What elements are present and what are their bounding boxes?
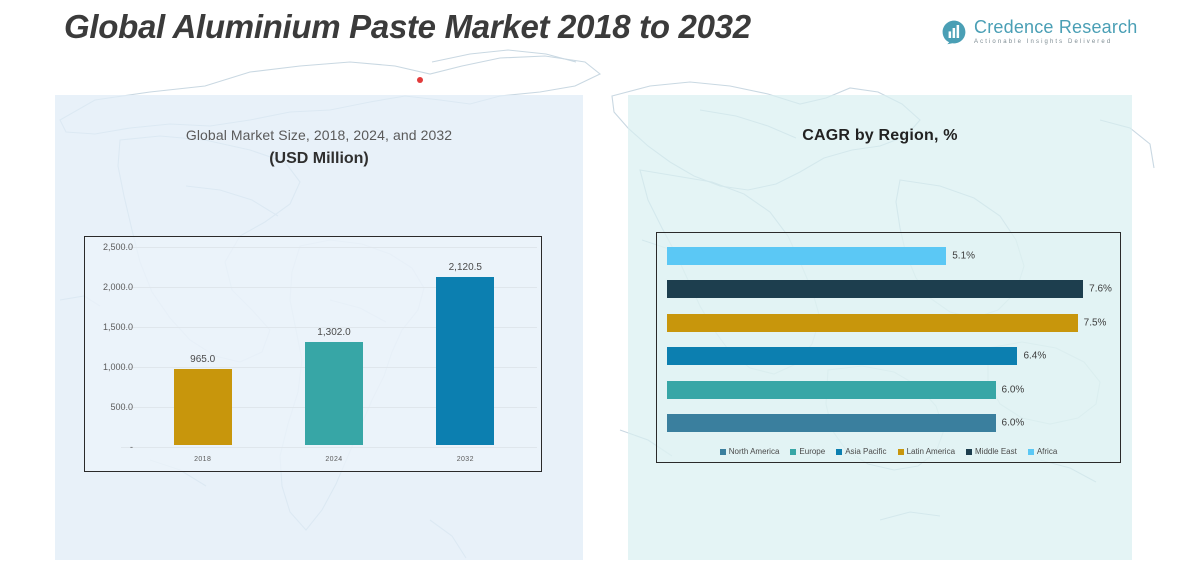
legend-swatch — [836, 449, 842, 455]
legend-swatch — [720, 449, 726, 455]
legend-label: Europe — [799, 447, 825, 456]
left-panel-heading: Global Market Size, 2018, 2024, and 2032… — [55, 127, 583, 168]
column-bar[interactable] — [436, 277, 494, 445]
logo-tagline: Actionable Insights Delivered — [974, 39, 1137, 45]
column-bar[interactable] — [174, 369, 232, 445]
legend-item[interactable]: Asia Pacific — [836, 447, 886, 456]
horizontal-bar[interactable] — [667, 414, 996, 432]
legend-label: Asia Pacific — [845, 447, 886, 456]
horizontal-bar[interactable] — [667, 347, 1017, 365]
y-axis-tick-label: 2,500.0 — [85, 242, 133, 252]
bar-plot-area: 5.1%7.6%7.5%6.4%6.0%6.0% — [657, 233, 1120, 432]
y-axis-tick-label: 1,500.0 — [85, 322, 133, 332]
page-title: Global Aluminium Paste Market 2018 to 20… — [64, 8, 751, 46]
brand-logo: Credence Research Actionable Insights De… — [941, 18, 1137, 45]
left-heading-line-1: Global Market Size, 2018, 2024, and 2032 — [55, 127, 583, 143]
legend-item[interactable]: North America — [720, 447, 780, 456]
legend-swatch — [898, 449, 904, 455]
bar-row: 6.0% — [667, 414, 1116, 432]
bar-row: 7.6% — [667, 280, 1116, 298]
legend-label: Africa — [1037, 447, 1057, 456]
column-value-label: 965.0 — [137, 354, 268, 365]
legend-label: Latin America — [907, 447, 955, 456]
cagr-by-region-panel: CAGR by Region, % 5.1%7.6%7.5%6.4%6.0%6.… — [628, 95, 1132, 560]
legend-item[interactable]: Africa — [1028, 447, 1057, 456]
column-plot-area: 965.020181,302.020242,120.52032 — [137, 247, 531, 445]
infographic-canvas: Global Aluminium Paste Market 2018 to 20… — [0, 0, 1187, 587]
horizontal-bar[interactable] — [667, 280, 1083, 298]
y-axis-tick-label: 500.0 — [85, 402, 133, 412]
x-axis-category-label: 2024 — [268, 456, 399, 463]
column-bar[interactable] — [305, 342, 363, 445]
right-panel-heading: CAGR by Region, % — [628, 127, 1132, 145]
horizontal-bar[interactable] — [667, 314, 1078, 332]
market-size-column-chart: -500.01,000.01,500.02,000.02,500.0 965.0… — [84, 236, 542, 472]
bar-value-label: 7.6% — [1089, 284, 1112, 295]
bar-value-label: 6.4% — [1023, 351, 1046, 362]
column-value-label: 1,302.0 — [268, 327, 399, 338]
column-slot: 965.02018 — [137, 247, 268, 445]
market-size-panel: Global Market Size, 2018, 2024, and 2032… — [55, 95, 583, 560]
bar-value-label: 7.5% — [1084, 317, 1107, 328]
bar-row: 7.5% — [667, 314, 1116, 332]
header: Global Aluminium Paste Market 2018 to 20… — [0, 0, 1187, 66]
map-location-dot-icon — [417, 77, 423, 83]
horizontal-bar[interactable] — [667, 247, 946, 265]
logo-text-block: Credence Research Actionable Insights De… — [974, 18, 1137, 45]
bar-value-label: 6.0% — [1002, 418, 1025, 429]
bar-chart-circle-logo-icon — [941, 19, 967, 45]
chart-legend: North AmericaEuropeAsia PacificLatin Ame… — [657, 447, 1120, 456]
bar-row: 6.0% — [667, 381, 1116, 399]
bar-row: 6.4% — [667, 347, 1116, 365]
column-value-label: 2,120.5 — [400, 262, 531, 273]
x-axis-category-label: 2018 — [137, 456, 268, 463]
y-axis-tick-label: 1,000.0 — [85, 362, 133, 372]
x-axis-category-label: 2032 — [400, 456, 531, 463]
legend-swatch — [1028, 449, 1034, 455]
legend-item[interactable]: Middle East — [966, 447, 1017, 456]
legend-label: North America — [729, 447, 780, 456]
left-heading-line-2: (USD Million) — [55, 150, 583, 168]
legend-swatch — [790, 449, 796, 455]
bar-value-label: 5.1% — [952, 250, 975, 261]
legend-item[interactable]: Europe — [790, 447, 825, 456]
logo-company-name: Credence Research — [974, 18, 1137, 36]
gridline — [121, 447, 537, 448]
bar-row: 5.1% — [667, 247, 1116, 265]
legend-label: Middle East — [975, 447, 1017, 456]
legend-swatch — [966, 449, 972, 455]
horizontal-bar[interactable] — [667, 381, 996, 399]
cagr-by-region-bar-chart: 5.1%7.6%7.5%6.4%6.0%6.0% North AmericaEu… — [656, 232, 1121, 463]
column-slot: 2,120.52032 — [400, 247, 531, 445]
y-axis-tick-label: - — [85, 442, 133, 452]
legend-item[interactable]: Latin America — [898, 447, 955, 456]
y-axis-tick-label: 2,000.0 — [85, 282, 133, 292]
column-slot: 1,302.02024 — [268, 247, 399, 445]
bar-value-label: 6.0% — [1002, 384, 1025, 395]
